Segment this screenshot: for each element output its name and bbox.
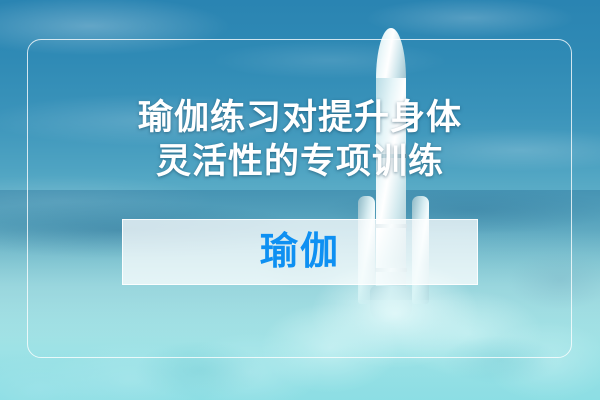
keyword-panel: 瑜伽 — [122, 219, 478, 285]
banner-image: 瑜伽练习对提升身体 灵活性的专项训练 瑜伽 — [0, 0, 600, 400]
rocket-nose-cone — [376, 28, 406, 82]
exhaust-smoke-tint — [0, 290, 600, 400]
keyword-label: 瑜伽 — [260, 233, 340, 271]
page-title: 瑜伽练习对提升身体 灵活性的专项训练 — [0, 96, 600, 184]
